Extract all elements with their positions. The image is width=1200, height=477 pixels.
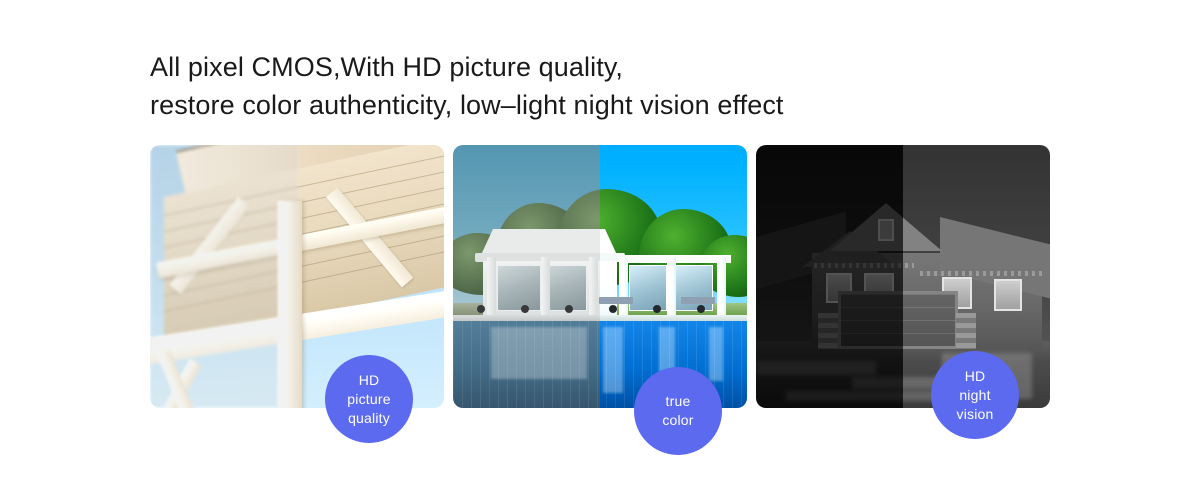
page-title: All pixel CMOS,With HD picture quality, …	[150, 48, 1050, 124]
badge-line-3: quality	[348, 409, 390, 428]
comparison-panel-hd-picture-quality: HD picture quality	[150, 145, 444, 408]
comparison-panel-row: HD picture quality	[150, 145, 1050, 408]
badge-line-2: picture	[347, 390, 390, 409]
badge-line-2: color	[662, 411, 693, 430]
page-title-line-1: All pixel CMOS,With HD picture quality,	[150, 48, 1050, 86]
badge-hd-night-vision: HD night vision	[931, 351, 1019, 439]
panel-half-before	[150, 145, 297, 408]
badge-line-1: HD	[359, 371, 380, 390]
panel-half-before	[453, 145, 600, 408]
page-title-line-2: restore color authenticity, low–light ni…	[150, 86, 1050, 124]
badge-line-2: night	[959, 386, 990, 405]
pergola-scene-before	[150, 145, 297, 408]
badge-hd-picture-quality: HD picture quality	[325, 355, 413, 443]
badge-line-1: HD	[965, 367, 986, 386]
comparison-panel-hd-night-vision: HD night vision	[756, 145, 1050, 408]
badge-line-1: true	[666, 392, 691, 411]
badge-true-color: true color	[634, 367, 722, 455]
comparison-panel-true-color: true color	[453, 145, 747, 408]
marketing-feature-banner: All pixel CMOS,With HD picture quality, …	[0, 0, 1200, 477]
night-house-scene-before	[756, 145, 903, 408]
panel-half-before	[756, 145, 903, 408]
panel-image-clip	[453, 145, 747, 408]
pavilion-scene-before	[453, 145, 600, 408]
badge-line-3: vision	[957, 405, 994, 424]
